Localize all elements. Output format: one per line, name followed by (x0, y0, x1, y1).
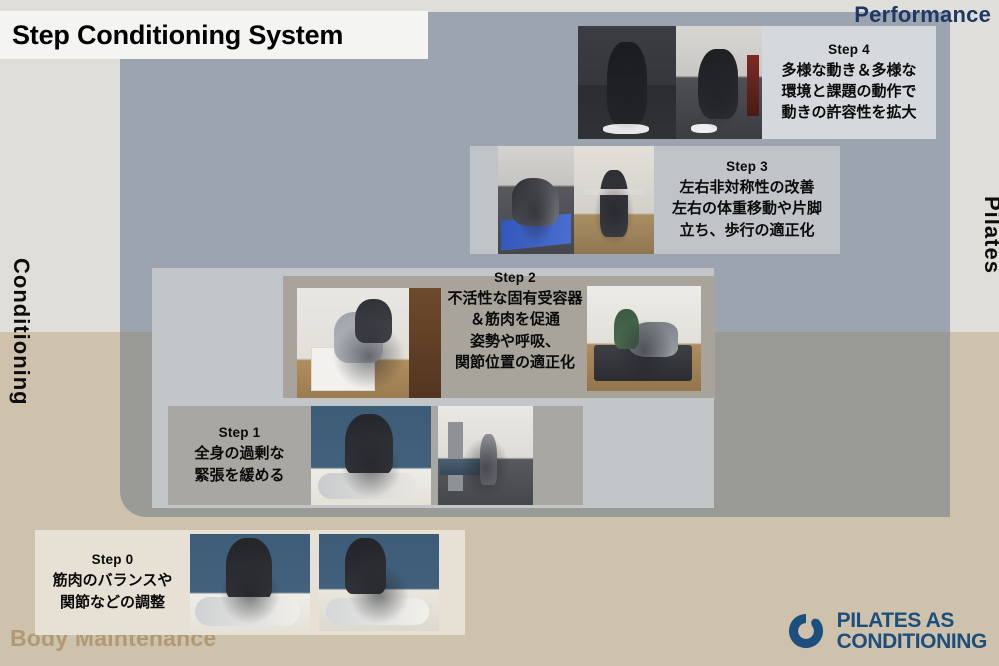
axis-label-performance: Performance (854, 2, 991, 28)
step-card-step3[interactable]: Step 3 左右非対称性の改善 左右の体重移動や片脚 立ち、歩行の適正化 (470, 146, 840, 254)
step0-photo-1 (190, 534, 310, 631)
logo-line-1: PILATES AS (837, 610, 987, 631)
step3-text: Step 3 左右非対称性の改善 左右の体重移動や片脚 立ち、歩行の適正化 (654, 159, 840, 241)
step3-line-2: 左右の体重移動や片脚 (672, 198, 822, 219)
step0-line-1: 筋肉のバランスや (53, 570, 173, 591)
step4-heading: Step 4 (828, 42, 870, 57)
step1-photo-1 (311, 406, 431, 505)
step-card-step1[interactable]: Step 1 全身の過剰な 緊張を緩める (168, 406, 583, 505)
title-banner: Step Conditioning System (0, 11, 428, 59)
step2-line-2: ＆筋肉を促通 (470, 309, 560, 330)
step3-line-3: 立ち、歩行の適正化 (679, 220, 814, 241)
brand-logo: PILATES AS CONDITIONING (785, 610, 987, 652)
step3-line-1: 左右非対称性の改善 (679, 177, 814, 198)
step4-photo-2 (676, 26, 762, 139)
step1-line-1: 全身の過剰な (194, 443, 284, 464)
pilates-as-conditioning-logo-mark (785, 610, 827, 652)
step1-text: Step 1 全身の過剰な 緊張を緩める (168, 425, 311, 486)
step4-line-3: 動きの許容性を拡大 (781, 102, 916, 123)
step3-photo-1 (498, 146, 574, 254)
step-card-step0[interactable]: Step 0 筋肉のバランスや 関節などの調整 (35, 530, 465, 635)
page-title: Step Conditioning System (0, 20, 343, 51)
step2-line-1: 不活性な固有受容器 (447, 288, 582, 309)
step3-photo-2 (574, 146, 654, 254)
step2-line-3: 姿勢や呼吸、 (470, 331, 560, 352)
step4-photo-1 (578, 26, 676, 139)
slide-canvas: Performance Pilates Conditioning Body Ma… (0, 0, 999, 666)
axis-label-conditioning: Conditioning (8, 258, 34, 406)
step-card-step2[interactable]: Step 2 不活性な固有受容器 ＆筋肉を促通 姿勢や呼吸、 関節位置の適正化 (283, 276, 715, 398)
step0-line-2: 関節などの調整 (60, 592, 165, 613)
step2-line-4: 関節位置の適正化 (455, 352, 575, 373)
step1-line-2: 緊張を緩める (194, 465, 284, 486)
step2-photo-2 (587, 286, 701, 391)
step0-text: Step 0 筋肉のバランスや 関節などの調整 (35, 552, 190, 613)
step1-photo-2 (438, 406, 533, 505)
step3-heading: Step 3 (726, 159, 768, 174)
step4-line-1: 多様な動き＆多様な (781, 60, 916, 81)
step4-text: Step 4 多様な動き＆多様な 環境と課題の動作で 動きの許容性を拡大 (762, 42, 936, 124)
logo-line-2: CONDITIONING (837, 631, 987, 652)
step2-text: Step 2 不活性な固有受容器 ＆筋肉を促通 姿勢や呼吸、 関節位置の適正化 (426, 270, 604, 373)
logo-wordmark: PILATES AS CONDITIONING (837, 610, 987, 652)
step0-photo-2 (319, 534, 439, 631)
axis-label-pilates: Pilates (979, 196, 999, 274)
step2-photo-1 (297, 288, 441, 398)
step1-heading: Step 1 (219, 425, 261, 440)
step2-heading: Step 2 (494, 270, 536, 285)
step4-line-2: 環境と課題の動作で (781, 81, 916, 102)
step0-heading: Step 0 (92, 552, 134, 567)
step-card-step4[interactable]: Step 4 多様な動き＆多様な 環境と課題の動作で 動きの許容性を拡大 (578, 26, 936, 139)
